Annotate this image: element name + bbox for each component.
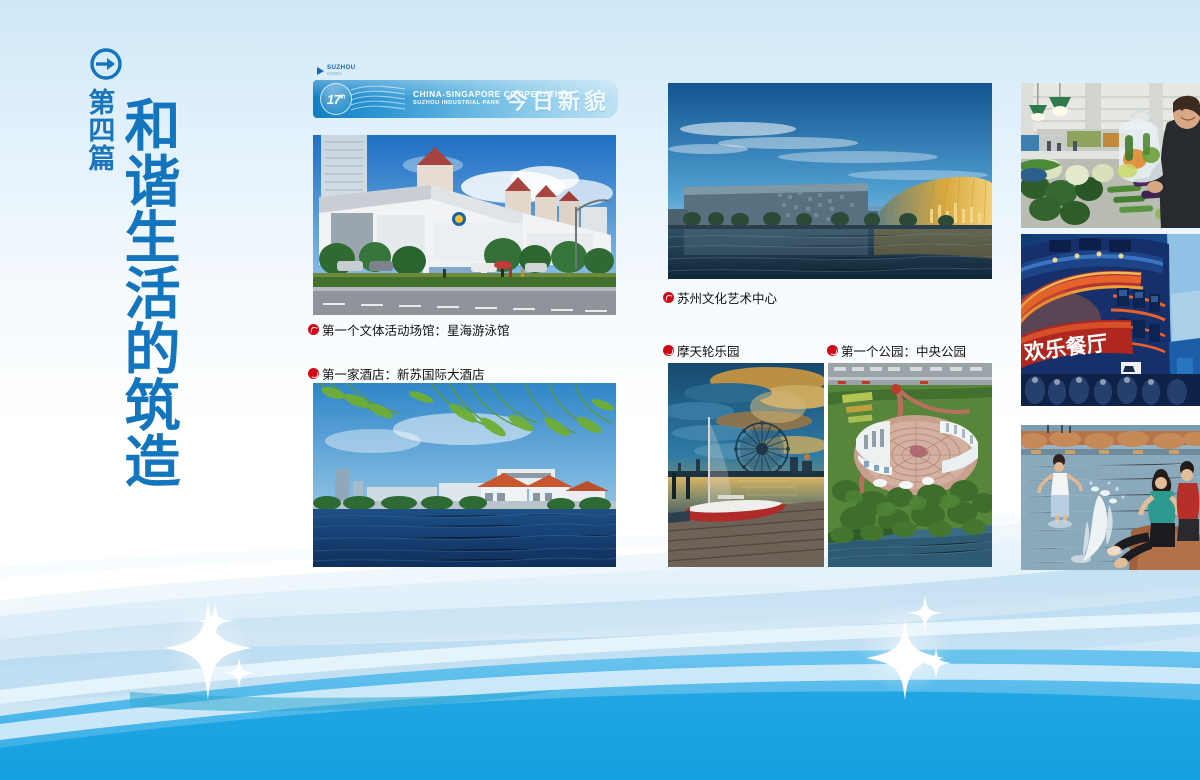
banner-top-mark: SUZHOU CHINA: [317, 63, 356, 78]
caption-xinghai-swimming-pool: 第一个文体活动场馆：星海游泳馆: [308, 320, 510, 339]
happy-restaurant-photo: 欢乐餐厅: [1021, 234, 1200, 406]
caption-bullet-icon: [663, 292, 674, 303]
banner-wave-lines-icon: [351, 84, 405, 114]
farmers-market-photo: [1021, 83, 1200, 228]
caption-text: 第一家酒店：新苏国际大酒店: [322, 364, 485, 383]
section-number-label: 第四篇: [84, 88, 112, 172]
banner-china-label: CHINA: [327, 72, 356, 76]
caption-xinsu-hotel: 第一家酒店：新苏国际大酒店: [308, 364, 485, 383]
caption-bullet-icon: [308, 368, 319, 379]
ferris-wheel-park-photo: [668, 363, 824, 567]
caption-culture-arts-center: 苏州文化艺术中心: [663, 288, 777, 307]
anniversary-suffix: th: [340, 94, 345, 100]
anniversary-logo-icon: 17th: [320, 83, 352, 115]
banner-bar: 17th CHINA-SINGAPORE COOPERATION SUZHOU …: [313, 80, 618, 118]
caption-central-park: 第一个公园：中央公园: [827, 341, 966, 360]
page-title: 和谐生活的筑造: [120, 96, 176, 488]
park-banner: SUZHOU CHINA 17th CHINA-SINGAPORE COOPER…: [313, 63, 618, 118]
caption-text: 第一个公园：中央公园: [841, 341, 966, 360]
caption-bullet-icon: [308, 324, 319, 335]
caption-text: 第一个文体活动场馆：星海游泳馆: [322, 320, 510, 339]
caption-text: 摩天轮乐园: [677, 341, 740, 360]
caption-ferris-wheel-park: 摩天轮乐园: [663, 341, 740, 360]
xinghai-swimming-pool-photo: [313, 135, 616, 315]
xinsu-international-hotel-photo: [313, 383, 616, 567]
anniversary-number: 17: [327, 92, 340, 107]
triangle-icon: [317, 67, 324, 75]
section-title-block: 第四篇 和谐生活的筑造: [84, 48, 224, 518]
banner-chinese-title: 今日新貌: [506, 84, 610, 116]
caption-bullet-icon: [663, 345, 674, 356]
children-playing-water-photo: [1021, 425, 1200, 570]
suzhou-culture-arts-center-photo: [668, 83, 992, 279]
circle-arrow-right-icon: [90, 48, 122, 80]
caption-bullet-icon: [827, 345, 838, 356]
central-park-aerial-photo: [828, 363, 992, 567]
caption-text: 苏州文化艺术中心: [677, 288, 777, 307]
poster-page: 第四篇 和谐生活的筑造 SUZHOU CHINA 17th: [0, 0, 1200, 780]
